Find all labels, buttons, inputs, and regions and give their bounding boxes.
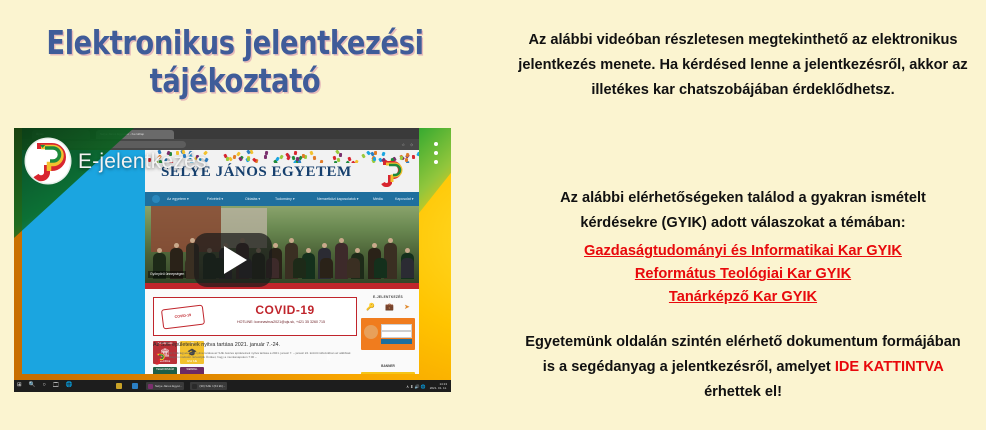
kebab-dot-1 xyxy=(434,142,438,146)
website-nav-item-0[interactable]: Az egyetem ▾ xyxy=(167,196,189,202)
confetti-piece xyxy=(334,160,338,163)
taskbar-app-label: (30) SJE I (64 kb)... xyxy=(199,384,225,388)
video-frame: Új lap Selye János Egyetem - Kezdőlap ← … xyxy=(14,128,451,392)
taskbar-app-button[interactable]: (30) SJE I (64 kb)... xyxy=(190,382,227,390)
confetti-piece xyxy=(286,155,291,160)
covid-notice-box: COVID-19 COVID-19 HOTLINE: koronavirus20… xyxy=(153,297,357,336)
confetti-piece xyxy=(382,151,386,156)
website-nav-home-icon[interactable] xyxy=(152,195,160,203)
hero-person xyxy=(335,243,348,279)
confetti-piece xyxy=(320,160,324,163)
website-right-panel: E-JELENTKEZÉS 🔑 💼 ➤ xyxy=(361,295,415,374)
confetti-piece xyxy=(373,157,377,161)
login-widget[interactable] xyxy=(361,318,415,350)
hero-person-head xyxy=(388,238,393,243)
cortana-icon[interactable]: ○ xyxy=(42,382,45,389)
covid-title: COVID-19 xyxy=(220,303,350,317)
windows-taskbar: ⊞ 🔍 ○ 🗔 🌐 Selye János Egyet...(30) SJE I… xyxy=(14,380,451,392)
confetti-piece xyxy=(295,157,298,161)
confetti-piece xyxy=(312,156,316,160)
hero-person-front xyxy=(374,258,387,278)
hero-caption: Gyönyörű ünnepségen xyxy=(148,271,186,278)
play-triangle-icon xyxy=(224,246,247,274)
website-header-logo-icon xyxy=(379,161,405,187)
confetti-piece xyxy=(332,155,336,160)
taskbar-system-icons: ⊞ 🔍 ○ 🗔 🌐 xyxy=(17,382,73,389)
hero-person-head xyxy=(174,243,179,248)
confetti-piece xyxy=(361,154,366,159)
browser-taskbar-icon[interactable]: 🌐 xyxy=(66,382,73,389)
page-root: Elektronikus jelentkezési tájékoztató Új… xyxy=(0,0,986,430)
confetti-piece xyxy=(280,154,285,159)
confetti-piece xyxy=(226,157,229,161)
news-item-1-headline[interactable]: Az SJE épületeinek nyitva tartása 2021. … xyxy=(153,341,357,349)
confetti-piece xyxy=(275,156,280,161)
website-nav-item-5[interactable]: Média xyxy=(373,196,383,202)
confetti-piece xyxy=(310,151,314,156)
service-tile-top-label: WEBMAIL xyxy=(180,368,204,371)
confetti-piece xyxy=(337,158,341,163)
login-submit-button[interactable] xyxy=(381,339,412,344)
browser-toolbar-right-icons[interactable]: ☆ ⬦ xyxy=(402,142,416,147)
login-username-field[interactable] xyxy=(381,324,412,331)
clock-date: 2021. 01. 11. xyxy=(430,386,447,390)
service-tile-top-label: TELEFONSZÁM xyxy=(153,368,177,371)
hero-person-head xyxy=(306,248,311,253)
website-hero-photo: Gyönyörű ünnepségen Selye János Egyetem,… xyxy=(145,206,419,289)
document-paragraph: Egyetemünk oldalán szintén elérhető doku… xyxy=(524,330,962,405)
confetti-piece xyxy=(247,157,250,161)
e-application-icon-row: 🔑 💼 ➤ xyxy=(361,303,415,311)
taskbar-clock[interactable]: 14:13 2021. 01. 11. xyxy=(430,382,447,390)
website-lower-section: SZOLGÁLTATÁSOK E-LEARNING🏛MOODLEAIS🎓AIS2… xyxy=(145,289,419,374)
website-nav-item-4[interactable]: Nemzetközi kapcsolatok ▾ xyxy=(317,196,359,202)
hero-person-head xyxy=(339,238,344,243)
page-title: Elektronikus jelentkezési tájékoztató xyxy=(19,24,451,101)
arrow-icon[interactable]: ➤ xyxy=(404,303,410,311)
website-nav-item-6[interactable]: Kapcsolat ▾ xyxy=(395,196,414,202)
ide-kattintva-link[interactable]: IDE KATTINTVA xyxy=(835,359,943,375)
website-nav-item-1[interactable]: Felvételi ▾ xyxy=(207,196,223,202)
kebab-dot-2 xyxy=(434,151,438,155)
confetti-piece xyxy=(293,151,297,155)
service-tile-bottom-label: AIS2 SJE xyxy=(180,360,204,363)
login-password-field[interactable] xyxy=(381,331,412,338)
hero-person-head xyxy=(355,248,360,253)
user-avatar-icon xyxy=(364,325,378,339)
taskbar-app-buttons: Selye János Egyet...(30) SJE I (64 kb)..… xyxy=(114,382,227,390)
faq-link-teacher-training[interactable]: Tanárképző Kar GYIK xyxy=(518,286,968,309)
taskbar-pinned-icon-1[interactable] xyxy=(130,382,140,390)
tray-icons[interactable]: ∧ ⬍ 🔊 🌐 xyxy=(406,383,426,390)
website-content: SELYE JÁNOS EGYETEM xyxy=(145,150,419,374)
faq-link-reformed-theology[interactable]: Református Teológiai Kar GYIK xyxy=(518,263,968,286)
left-column: Elektronikus jelentkezési tájékoztató Új… xyxy=(0,0,470,430)
key-icon[interactable]: 🔑 xyxy=(366,303,375,311)
right-column: Az alábbi videóban részletesen megtekint… xyxy=(500,0,986,430)
confetti-piece xyxy=(291,155,295,160)
hero-person-head xyxy=(157,248,162,253)
news-item-1-logo-icon xyxy=(154,352,165,364)
confetti-piece xyxy=(412,155,415,159)
faq-link-list: Gazdaságtudományi és Informatikai Kar GY… xyxy=(518,240,968,309)
hero-person-front xyxy=(293,258,306,278)
faq-intro-paragraph: Az alábbi elérhetőségeken találod a gyak… xyxy=(524,186,962,236)
covid-stamp-text: COVID-19 xyxy=(163,312,203,321)
task-view-icon[interactable]: 🗔 xyxy=(53,382,59,389)
confetti-piece xyxy=(416,152,419,157)
briefcase-icon[interactable]: 💼 xyxy=(385,303,394,311)
start-button-icon[interactable]: ⊞ xyxy=(17,382,22,389)
news-item-2-headline[interactable]: Értesítés - Az SJE rektorjelölt-választá… xyxy=(153,373,357,374)
banner-tile[interactable]: ☕ xyxy=(361,372,415,374)
confetti-piece xyxy=(263,155,266,159)
hero-person-head xyxy=(273,243,278,248)
faq-link-economics-informatics[interactable]: Gazdaságtudományi és Informatikai Kar GY… xyxy=(518,240,968,263)
taskbar-pinned-icon-0[interactable] xyxy=(114,382,124,390)
covid-subtitle: HOTLINE: koronavirus2021@ujs.sk, +421 35… xyxy=(210,320,352,325)
kebab-dot-3 xyxy=(434,160,438,164)
video-player-thumbnail[interactable]: Új lap Selye János Egyetem - Kezdőlap ← … xyxy=(14,128,451,392)
banner-panel-title: BANNER xyxy=(361,364,415,368)
hero-person-head xyxy=(405,248,410,253)
news-item-1[interactable]: Az SJE épületeinek nyitva tartása 2021. … xyxy=(153,341,357,359)
taskbar-app-label: Selye János Egyet... xyxy=(155,384,182,388)
taskbar-tray: ∧ ⬍ 🔊 🌐 14:13 2021. 01. 11. xyxy=(406,382,447,390)
taskbar-app-button[interactable]: Selye János Egyet... xyxy=(146,382,184,390)
play-button[interactable] xyxy=(194,233,272,287)
hero-person-front xyxy=(401,258,414,278)
intro-paragraph: Az alábbi videóban részletesen megtekint… xyxy=(518,28,968,103)
hero-person-head xyxy=(322,243,327,248)
document-paragraph-after: érhettek el! xyxy=(704,384,782,400)
browser-new-tab-button[interactable] xyxy=(178,130,188,139)
website-nav-bar[interactable]: Az egyetem ▾ Felvételi ▾ Oktatás ▾ Tudom… xyxy=(145,192,419,206)
e-application-panel-title: E-JELENTKEZÉS xyxy=(361,295,415,299)
channel-avatar[interactable] xyxy=(26,139,70,183)
hero-person-head xyxy=(289,238,294,243)
covid-stamp-icon: COVID-19 xyxy=(161,305,205,330)
website-nav-item-2[interactable]: Oktatás ▾ xyxy=(245,196,260,202)
search-icon[interactable]: 🔍 xyxy=(29,382,36,389)
hero-person-head xyxy=(372,243,377,248)
video-overlay-title: E-jelentkezés xyxy=(78,150,207,174)
hero-person-front xyxy=(347,258,360,278)
hero-person-front xyxy=(320,258,333,278)
website-nav-item-3[interactable]: Tudomány ▾ xyxy=(275,196,295,202)
video-more-options-icon[interactable] xyxy=(434,142,438,169)
confetti-piece xyxy=(302,153,305,157)
